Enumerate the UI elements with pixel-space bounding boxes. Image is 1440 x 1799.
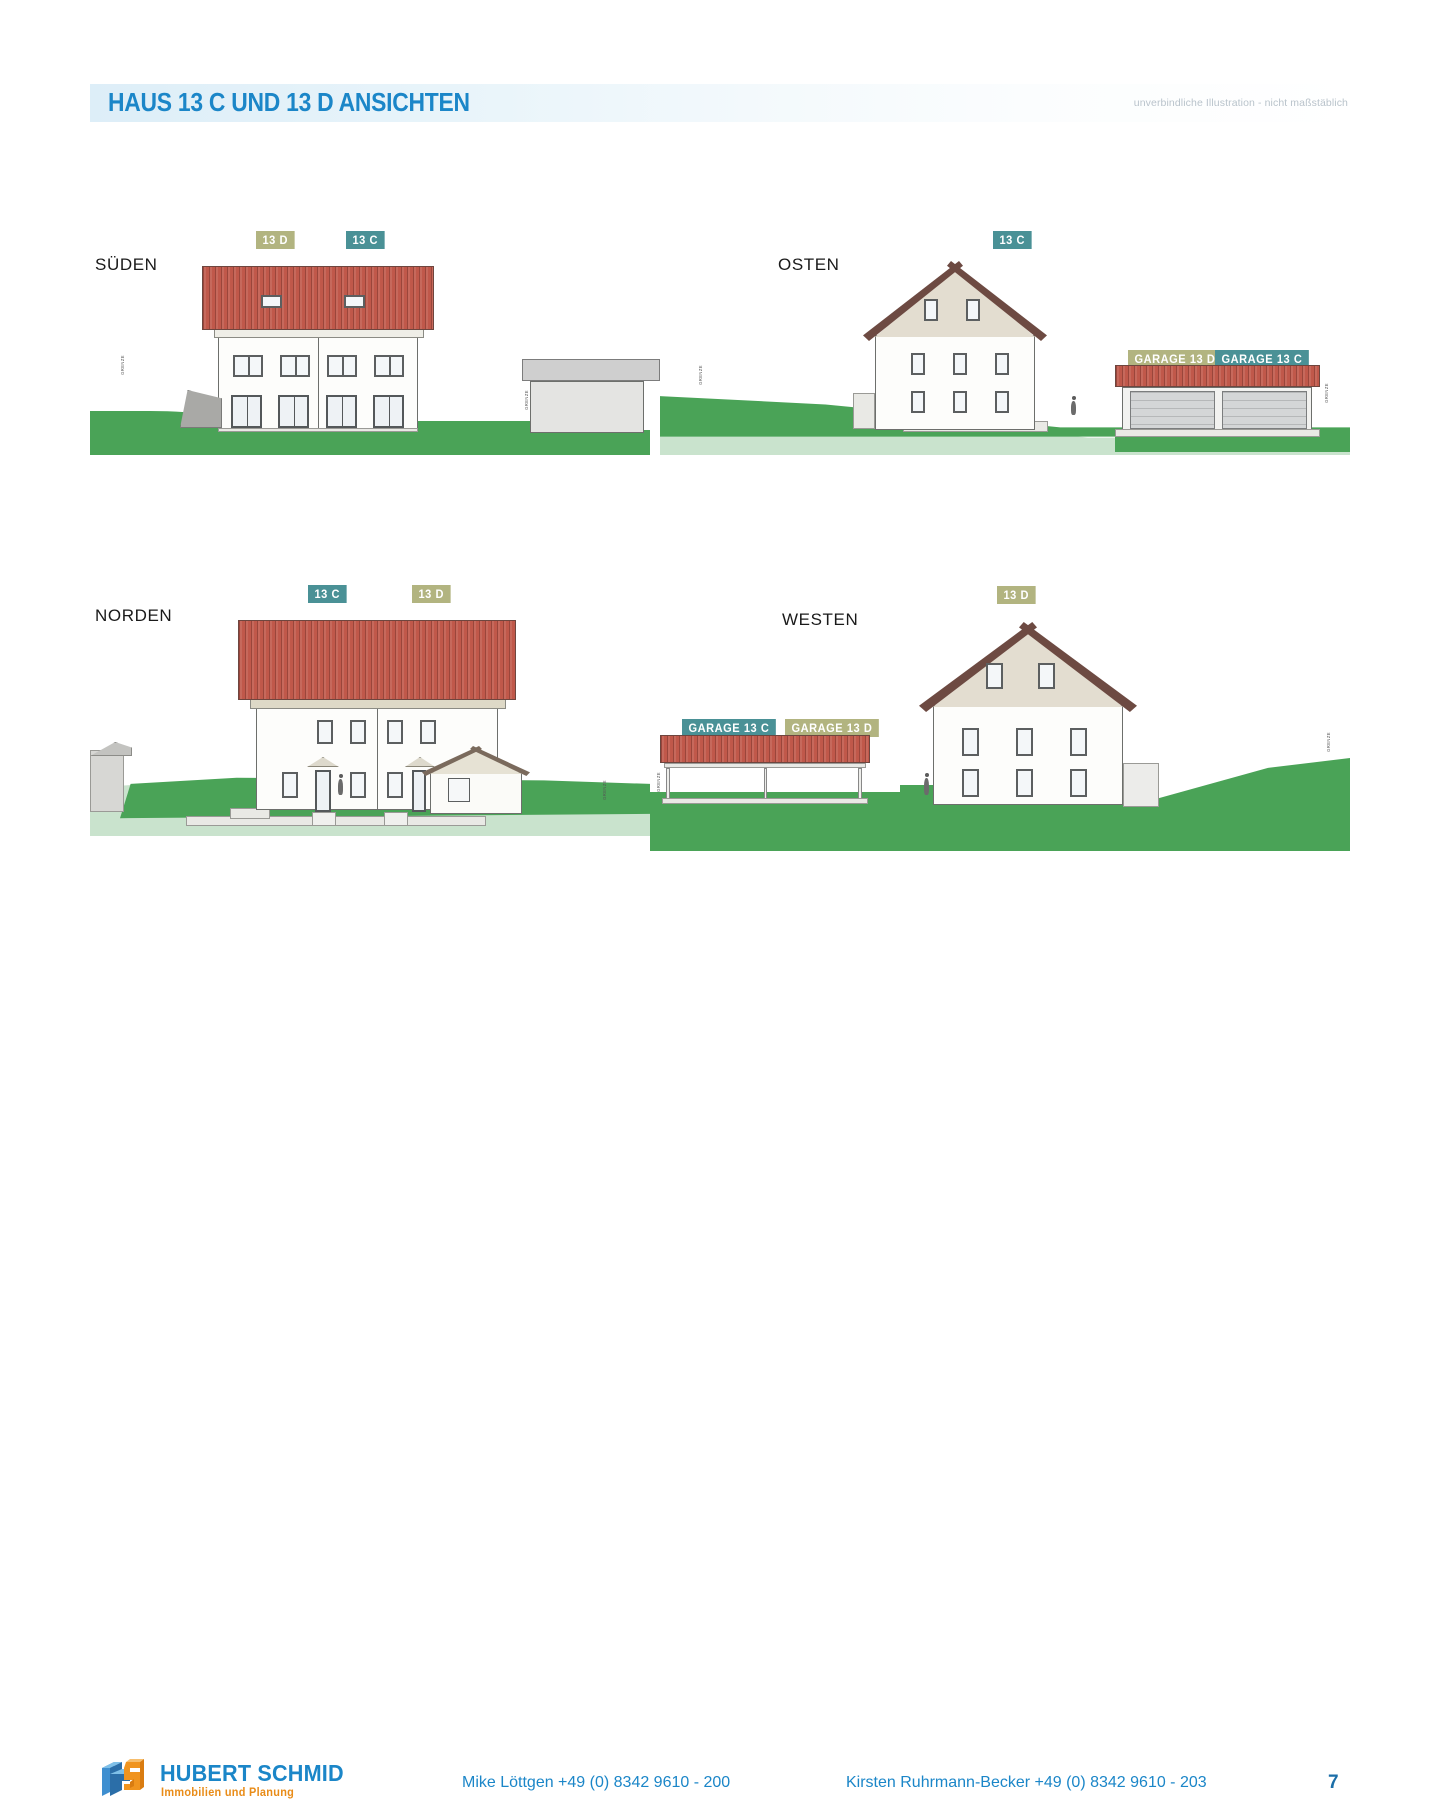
- eave-band-sueden: [214, 329, 424, 338]
- window-f1-3-westen: [1070, 769, 1087, 797]
- window-upper-2-sueden: [280, 355, 310, 377]
- entrance-steps-13c-norden: [312, 812, 336, 826]
- badge-13d-westen: 13 D: [997, 586, 1035, 604]
- logo-company-tagline: Immobilien und Planung: [161, 1787, 294, 1799]
- boundary-label-left-westen: GRENZE: [656, 772, 661, 792]
- retaining-wall-osten: [853, 393, 875, 429]
- badge-13c-sueden: 13 C: [346, 231, 384, 249]
- party-wall-line-norden: [377, 708, 378, 810]
- annex-block-westen: [1123, 763, 1159, 807]
- annex-wall-norden: [430, 772, 522, 814]
- badge-13c-osten: 13 C: [993, 231, 1031, 249]
- annex-window-norden: [448, 778, 470, 802]
- scale-figure-norden: [338, 779, 343, 795]
- window-f1-3-osten: [995, 391, 1009, 413]
- garage-body-sueden: [530, 381, 644, 433]
- window-upper-1-norden: [317, 720, 333, 744]
- contact-left: Mike Löttgen +49 (0) 8342 9610 - 200: [462, 1774, 730, 1792]
- document-page: HAUS 13 C UND 13 D ANSICHTEN unverbindli…: [0, 0, 1440, 1018]
- boundary-label-left-osten: GRENZE: [698, 365, 703, 385]
- contact-right: Kirsten Ruhrmann-Becker +49 (0) 8342 961…: [846, 1774, 1207, 1792]
- window-upper-4-sueden: [374, 355, 404, 377]
- direction-label-osten: OSTEN: [778, 255, 840, 275]
- window-upper-2-norden: [350, 720, 366, 744]
- garage-apron-osten: [1115, 429, 1320, 437]
- direction-label-norden: NORDEN: [95, 606, 172, 626]
- page-title-rest: 13 C UND 13 D ANSICHTEN: [172, 87, 470, 117]
- window-f1-2-westen: [1016, 769, 1033, 797]
- terrace-door-2-sueden: [278, 395, 309, 428]
- entrance-door-13d-norden[interactable]: [412, 770, 426, 812]
- boundary-label-right-osten: GRENZE: [1324, 383, 1329, 403]
- hubert-schmid-logo-icon: [100, 1756, 156, 1798]
- neighbour-roof-norden: [90, 742, 132, 756]
- header-disclaimer: unverbindliche Illustration - nicht maßs…: [1134, 97, 1348, 109]
- boundary-label-right-westen: GRENZE: [1326, 732, 1331, 752]
- eave-band-norden: [250, 699, 506, 709]
- terrace-door-1-sueden: [231, 395, 262, 428]
- entrance-steps-13d-norden: [384, 812, 408, 826]
- window-f2-3-osten: [995, 353, 1009, 375]
- garage-door-13c-osten[interactable]: [1222, 391, 1307, 429]
- carport-roof-westen: [660, 735, 870, 763]
- terrain-slope-right-westen: [1145, 758, 1350, 813]
- logo-company-name: HUBERT SCHMID: [160, 1760, 344, 1787]
- window-upper-3-sueden: [327, 355, 357, 377]
- garage-door-13d-osten[interactable]: [1130, 391, 1215, 429]
- window-f1-2-osten: [953, 391, 967, 413]
- scale-figure-head-westen: [925, 773, 929, 777]
- window-upper-4-norden: [420, 720, 436, 744]
- window-f2-2-westen: [1016, 728, 1033, 756]
- scale-figure-head-norden: [339, 774, 343, 778]
- direction-label-westen: WESTEN: [782, 610, 858, 630]
- window-f2-2-osten: [953, 353, 967, 375]
- terrace-door-4-sueden: [373, 395, 404, 428]
- carport-slab-westen: [662, 798, 868, 804]
- boundary-label-norden: GRENZE: [602, 780, 607, 800]
- badge-13d-sueden: 13 D: [256, 231, 294, 249]
- entrance-door-13c-norden[interactable]: [315, 770, 331, 812]
- roof-sueden: [202, 266, 434, 330]
- scale-figure-westen: [924, 778, 929, 795]
- window-f1-1-osten: [911, 391, 925, 413]
- elevation-view-westen: WESTEN 13 D GARAGE 13 C GARAGE 13 D: [650, 580, 1350, 850]
- gable-window-1-osten: [924, 299, 938, 321]
- elevation-view-sueden: SÜDEN 13 D 13 C: [90, 225, 650, 475]
- party-wall-line-sueden: [318, 337, 319, 432]
- direction-label-sueden: SÜDEN: [95, 255, 158, 275]
- house-gable-westen: [933, 628, 1123, 707]
- elevation-view-osten: OSTEN 13 C GARAGE 13 D GARAGE 13 C: [660, 225, 1350, 475]
- window-f2-1-westen: [962, 728, 979, 756]
- badge-13d-norden: 13 D: [412, 585, 450, 603]
- page-title: HAUS 13 C UND 13 D ANSICHTEN: [108, 87, 470, 118]
- gable-window-2-westen: [1038, 663, 1055, 689]
- badge-13c-norden: 13 C: [308, 585, 346, 603]
- window-upper-1-sueden: [233, 355, 263, 377]
- gable-window-1-westen: [986, 663, 1003, 689]
- window-f1-1-westen: [962, 769, 979, 797]
- annex-lean-to-sueden: [180, 390, 222, 428]
- page-number: 7: [1328, 1772, 1339, 1794]
- garage-roof-sueden: [522, 359, 660, 381]
- window-lower-2-norden: [350, 772, 366, 798]
- scale-figure-osten: [1071, 401, 1076, 415]
- gable-window-2-osten: [966, 299, 980, 321]
- window-f2-1-osten: [911, 353, 925, 375]
- window-lower-3-norden: [387, 772, 403, 798]
- house-gable-osten: [875, 267, 1035, 337]
- window-upper-3-norden: [387, 720, 403, 744]
- page-footer: HUBERT SCHMID Immobilien und Planung Mik…: [0, 872, 1440, 952]
- roof-window-13d-sueden: [261, 295, 282, 308]
- page-title-bold: HAUS: [108, 87, 172, 117]
- terrace-door-3-sueden: [326, 395, 357, 428]
- boundary-label-right-sueden: GRENZE: [524, 390, 529, 410]
- roof-norden: [238, 620, 516, 700]
- window-lower-1-norden: [282, 772, 298, 798]
- boundary-label-left-sueden: GRENZE: [120, 355, 125, 375]
- garage-roof-osten: [1115, 365, 1320, 387]
- elevation-view-norden: NORDEN 13 C 13 D: [90, 580, 650, 840]
- terrace-slab-sueden: [218, 428, 418, 432]
- neighbour-building-norden: [90, 750, 124, 812]
- scale-figure-head-osten: [1072, 396, 1076, 400]
- house-wall-osten: [875, 335, 1035, 430]
- roof-window-13c-sueden: [344, 295, 365, 308]
- window-f2-3-westen: [1070, 728, 1087, 756]
